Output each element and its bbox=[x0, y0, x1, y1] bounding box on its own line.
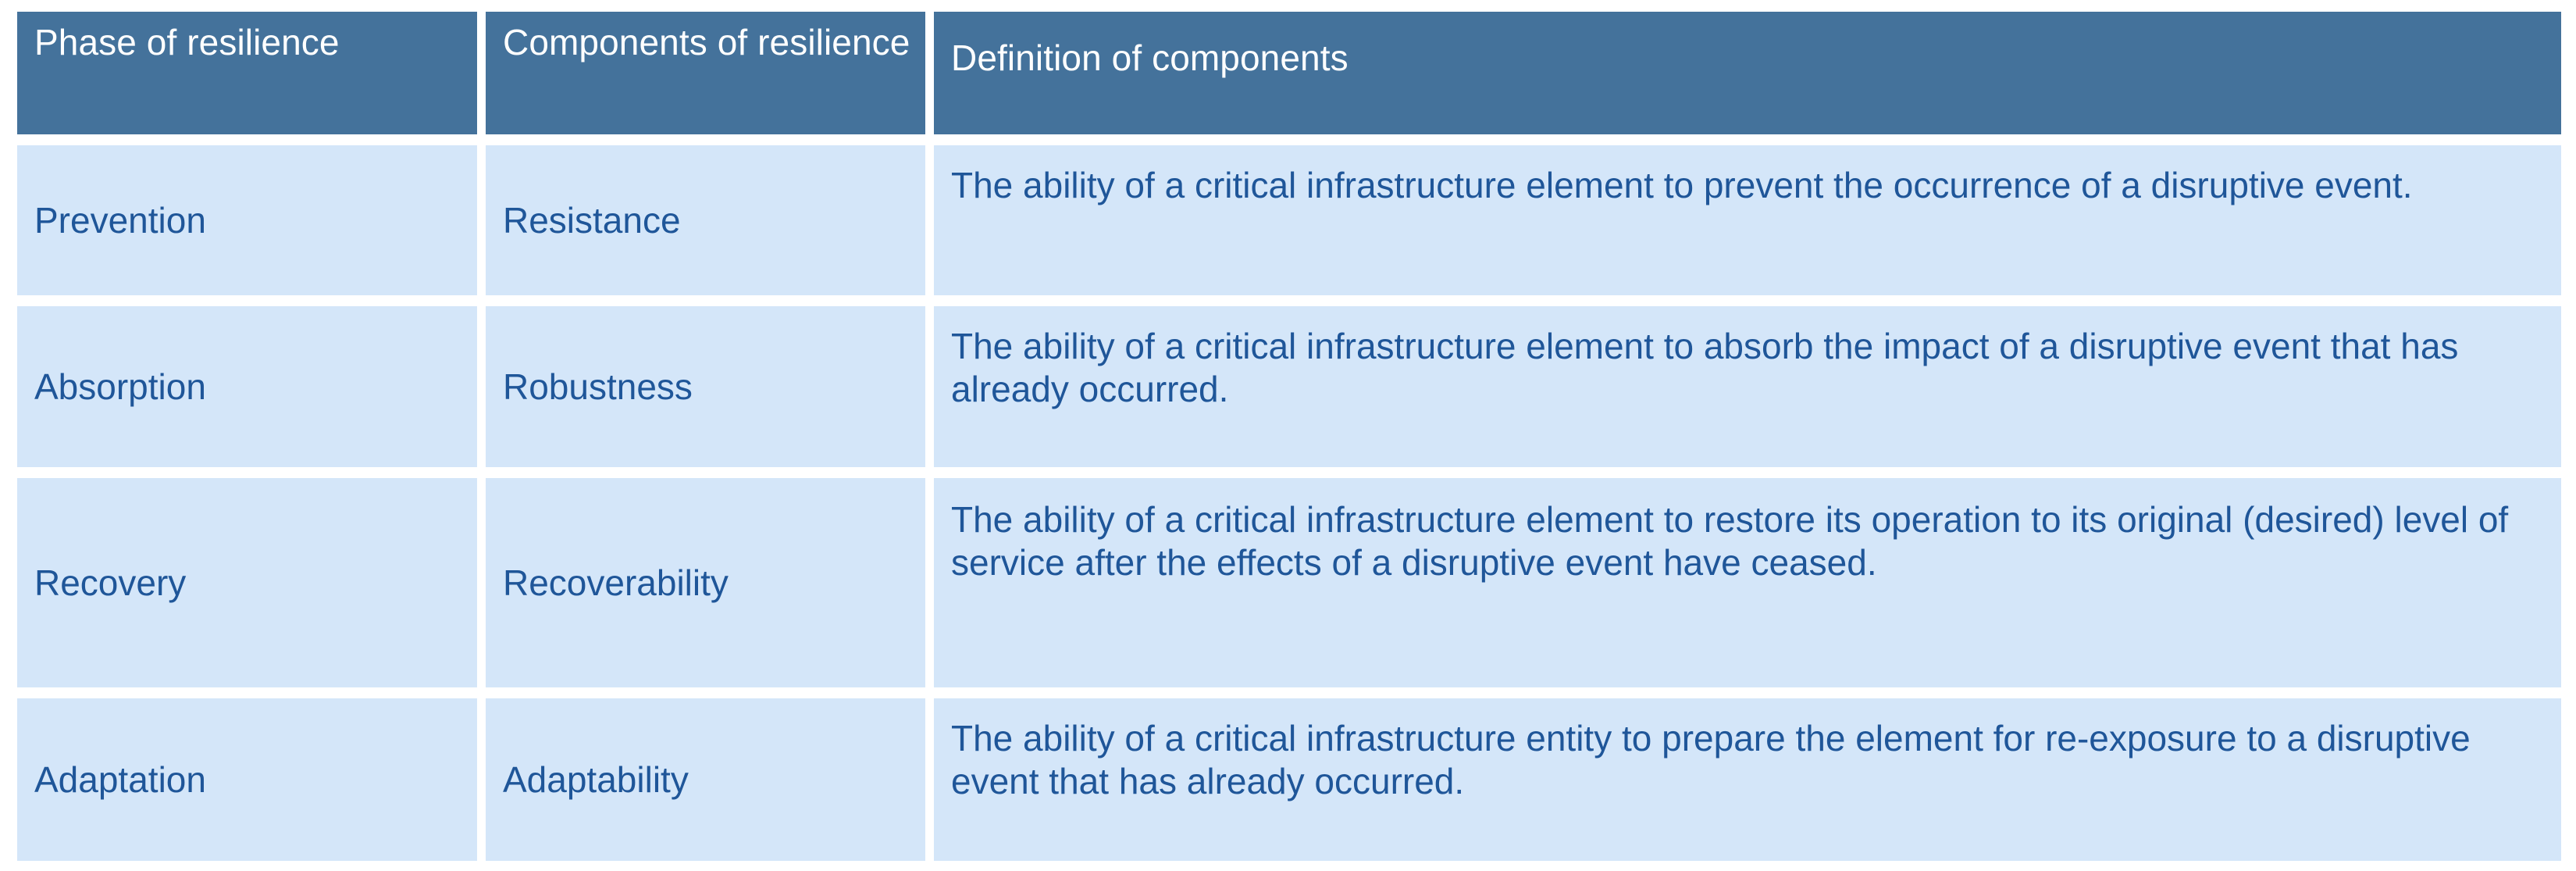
cell-phase-label: Prevention bbox=[34, 199, 206, 242]
cell-component-label: Adaptability bbox=[503, 759, 689, 801]
cell-definition: The ability of a critical infrastructure… bbox=[934, 698, 2561, 861]
cell-definition-label: The ability of a critical infrastructure… bbox=[951, 717, 2524, 802]
cell-phase: Absorption bbox=[17, 306, 477, 467]
cell-component: Resistance bbox=[486, 145, 925, 295]
cell-phase-label: Adaptation bbox=[34, 759, 206, 801]
cell-component: Adaptability bbox=[486, 698, 925, 861]
resilience-table: Phase of resilience Components of resili… bbox=[17, 12, 2561, 859]
column-header-definition-of-components-label: Definition of components bbox=[951, 23, 1349, 78]
column-header-components-of-resilience: Components of resilience bbox=[486, 12, 925, 134]
cell-definition: The ability of a critical infrastructure… bbox=[934, 306, 2561, 467]
cell-definition-label: The ability of a critical infrastructure… bbox=[951, 325, 2524, 410]
cell-phase: Prevention bbox=[17, 145, 477, 295]
table-row: Prevention Resistance The ability of a c… bbox=[17, 145, 2561, 295]
column-header-phase-of-resilience-label: Phase of resilience bbox=[34, 23, 340, 62]
cell-component-label: Recoverability bbox=[503, 562, 729, 605]
cell-definition-label: The ability of a critical infrastructure… bbox=[951, 164, 2413, 207]
table-row: Recovery Recoverability The ability of a… bbox=[17, 478, 2561, 687]
table-row: Adaptation Adaptability The ability of a… bbox=[17, 698, 2561, 861]
cell-phase-label: Recovery bbox=[34, 562, 186, 605]
cell-definition: The ability of a critical infrastructure… bbox=[934, 145, 2561, 295]
column-header-components-of-resilience-label: Components of resilience bbox=[503, 23, 910, 62]
cell-component-label: Resistance bbox=[503, 199, 681, 242]
table-header-row: Phase of resilience Components of resili… bbox=[17, 12, 2561, 134]
cell-definition: The ability of a critical infrastructure… bbox=[934, 478, 2561, 687]
cell-phase: Recovery bbox=[17, 478, 477, 687]
cell-phase-label: Absorption bbox=[34, 366, 206, 409]
cell-component: Robustness bbox=[486, 306, 925, 467]
column-header-definition-of-components: Definition of components bbox=[934, 12, 2561, 134]
table-row: Absorption Robustness The ability of a c… bbox=[17, 306, 2561, 467]
cell-component: Recoverability bbox=[486, 478, 925, 687]
cell-phase: Adaptation bbox=[17, 698, 477, 861]
cell-definition-label: The ability of a critical infrastructure… bbox=[951, 498, 2524, 584]
cell-component-label: Robustness bbox=[503, 366, 693, 409]
column-header-phase-of-resilience: Phase of resilience bbox=[17, 12, 477, 134]
